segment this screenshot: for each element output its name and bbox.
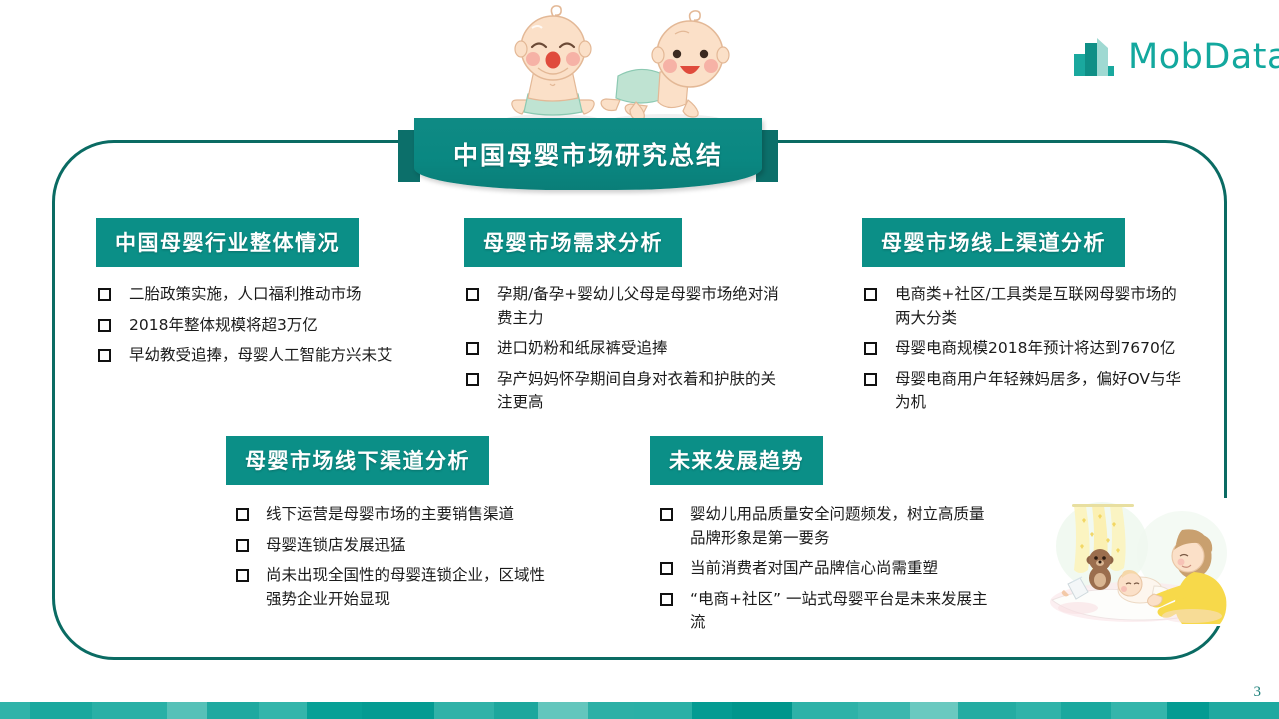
two-cartoon-babies-illustration — [492, 2, 741, 130]
bottom-decorative-bar — [0, 702, 1279, 719]
section-overall: 中国母婴行业整体情况 二胎政策实施，人口福利推动市场 2018年整体规模将超3万… — [96, 218, 426, 375]
bottom-bar-segment — [1209, 702, 1279, 719]
bullet-list-future: 婴幼儿用品质量安全问题频发，树立高质量品牌形象是第一要务 当前消费者对国产品牌信… — [650, 503, 990, 635]
list-item: 婴幼儿用品质量安全问题频发，树立高质量品牌形象是第一要务 — [650, 503, 990, 550]
slide: MobData — [0, 0, 1279, 719]
bottom-bar-segment — [588, 702, 634, 719]
bullet-list-demand: 孕期/备孕+婴幼儿父母是母婴市场绝对消费主力 进口奶粉和纸尿裤受追捧 孕产妈妈怀… — [464, 283, 784, 415]
bottom-bar-segment — [910, 702, 958, 719]
bottom-bar-segment — [634, 702, 692, 719]
section-offline-channel: 母婴市场线下渠道分析 线下运营是母婴市场的主要销售渠道 母婴连锁店发展迅猛 尚未… — [226, 436, 546, 618]
bottom-bar-segment — [30, 702, 92, 719]
bottom-bar-segment — [207, 702, 259, 719]
title-ribbon: 中国母婴市场研究总结 — [398, 118, 778, 194]
list-item: “电商+社区” 一站式母婴平台是未来发展主流 — [650, 588, 990, 635]
brand-name: MobData — [1128, 40, 1279, 75]
bottom-bar-segment — [167, 702, 207, 719]
bottom-bar-segment — [858, 702, 910, 719]
section-heading-future: 未来发展趋势 — [650, 436, 823, 485]
mobdata-logo: MobData — [1072, 36, 1279, 78]
bullet-list-online: 电商类+社区/工具类是互联网母婴市场的两大分类 母婴电商规模2018年预计将达到… — [862, 283, 1182, 415]
bottom-bar-segment — [538, 702, 588, 719]
list-item: 孕产妈妈怀孕期间自身对衣着和护肤的关注更高 — [464, 368, 784, 415]
list-item: 二胎政策实施，人口福利推动市场 — [96, 283, 426, 307]
bullet-list-overall: 二胎政策实施，人口福利推动市场 2018年整体规模将超3万亿 早幼教受追捧，母婴… — [96, 283, 426, 368]
list-item: 电商类+社区/工具类是互联网母婴市场的两大分类 — [862, 283, 1182, 330]
bottom-bar-segment — [732, 702, 792, 719]
bottom-bar-segment — [692, 702, 732, 719]
list-item: 2018年整体规模将超3万亿 — [96, 314, 426, 338]
mother-and-baby-illustration — [1042, 498, 1228, 626]
page-title: 中国母婴市场研究总结 — [453, 136, 723, 172]
section-heading-overall: 中国母婴行业整体情况 — [96, 218, 359, 267]
bottom-bar-segment — [1111, 702, 1167, 719]
bottom-bar-segment — [362, 702, 434, 719]
section-heading-demand: 母婴市场需求分析 — [464, 218, 682, 267]
bottom-bar-segment — [434, 702, 494, 719]
bullet-list-offline: 线下运营是母婴市场的主要销售渠道 母婴连锁店发展迅猛 尚未出现全国性的母婴连锁企… — [226, 503, 546, 611]
bottom-bar-segment — [792, 702, 858, 719]
bottom-bar-segment — [0, 702, 30, 719]
bar-chart-logo-icon — [1072, 36, 1116, 78]
bottom-bar-segment — [1016, 702, 1061, 719]
bottom-bar-segment — [92, 702, 167, 719]
bottom-bar-segment — [1061, 702, 1111, 719]
list-item: 进口奶粉和纸尿裤受追捧 — [464, 337, 784, 361]
list-item: 孕期/备孕+婴幼儿父母是母婴市场绝对消费主力 — [464, 283, 784, 330]
list-item: 母婴连锁店发展迅猛 — [226, 534, 546, 558]
bottom-bar-segment — [958, 702, 1016, 719]
list-item: 母婴电商用户年轻辣妈居多，偏好OV与华为机 — [862, 368, 1182, 415]
list-item: 线下运营是母婴市场的主要销售渠道 — [226, 503, 546, 527]
section-demand: 母婴市场需求分析 孕期/备孕+婴幼儿父母是母婴市场绝对消费主力 进口奶粉和纸尿裤… — [464, 218, 784, 422]
page-number: 3 — [1254, 684, 1262, 701]
list-item: 当前消费者对国产品牌信心尚需重塑 — [650, 557, 990, 581]
bottom-bar-segment — [259, 702, 307, 719]
ribbon-body: 中国母婴市场研究总结 — [414, 118, 762, 190]
bottom-bar-segment — [494, 702, 538, 719]
list-item: 母婴电商规模2018年预计将达到7670亿 — [862, 337, 1182, 361]
bottom-bar-segment — [307, 702, 362, 719]
section-heading-offline: 母婴市场线下渠道分析 — [226, 436, 489, 485]
section-future-trends: 未来发展趋势 婴幼儿用品质量安全问题频发，树立高质量品牌形象是第一要务 当前消费… — [650, 436, 990, 642]
list-item: 尚未出现全国性的母婴连锁企业，区域性强势企业开始显现 — [226, 564, 546, 611]
list-item: 早幼教受追捧，母婴人工智能方兴未艾 — [96, 344, 426, 368]
bottom-bar-segment — [1167, 702, 1209, 719]
section-online-channel: 母婴市场线上渠道分析 电商类+社区/工具类是互联网母婴市场的两大分类 母婴电商规… — [862, 218, 1182, 422]
section-heading-online: 母婴市场线上渠道分析 — [862, 218, 1125, 267]
